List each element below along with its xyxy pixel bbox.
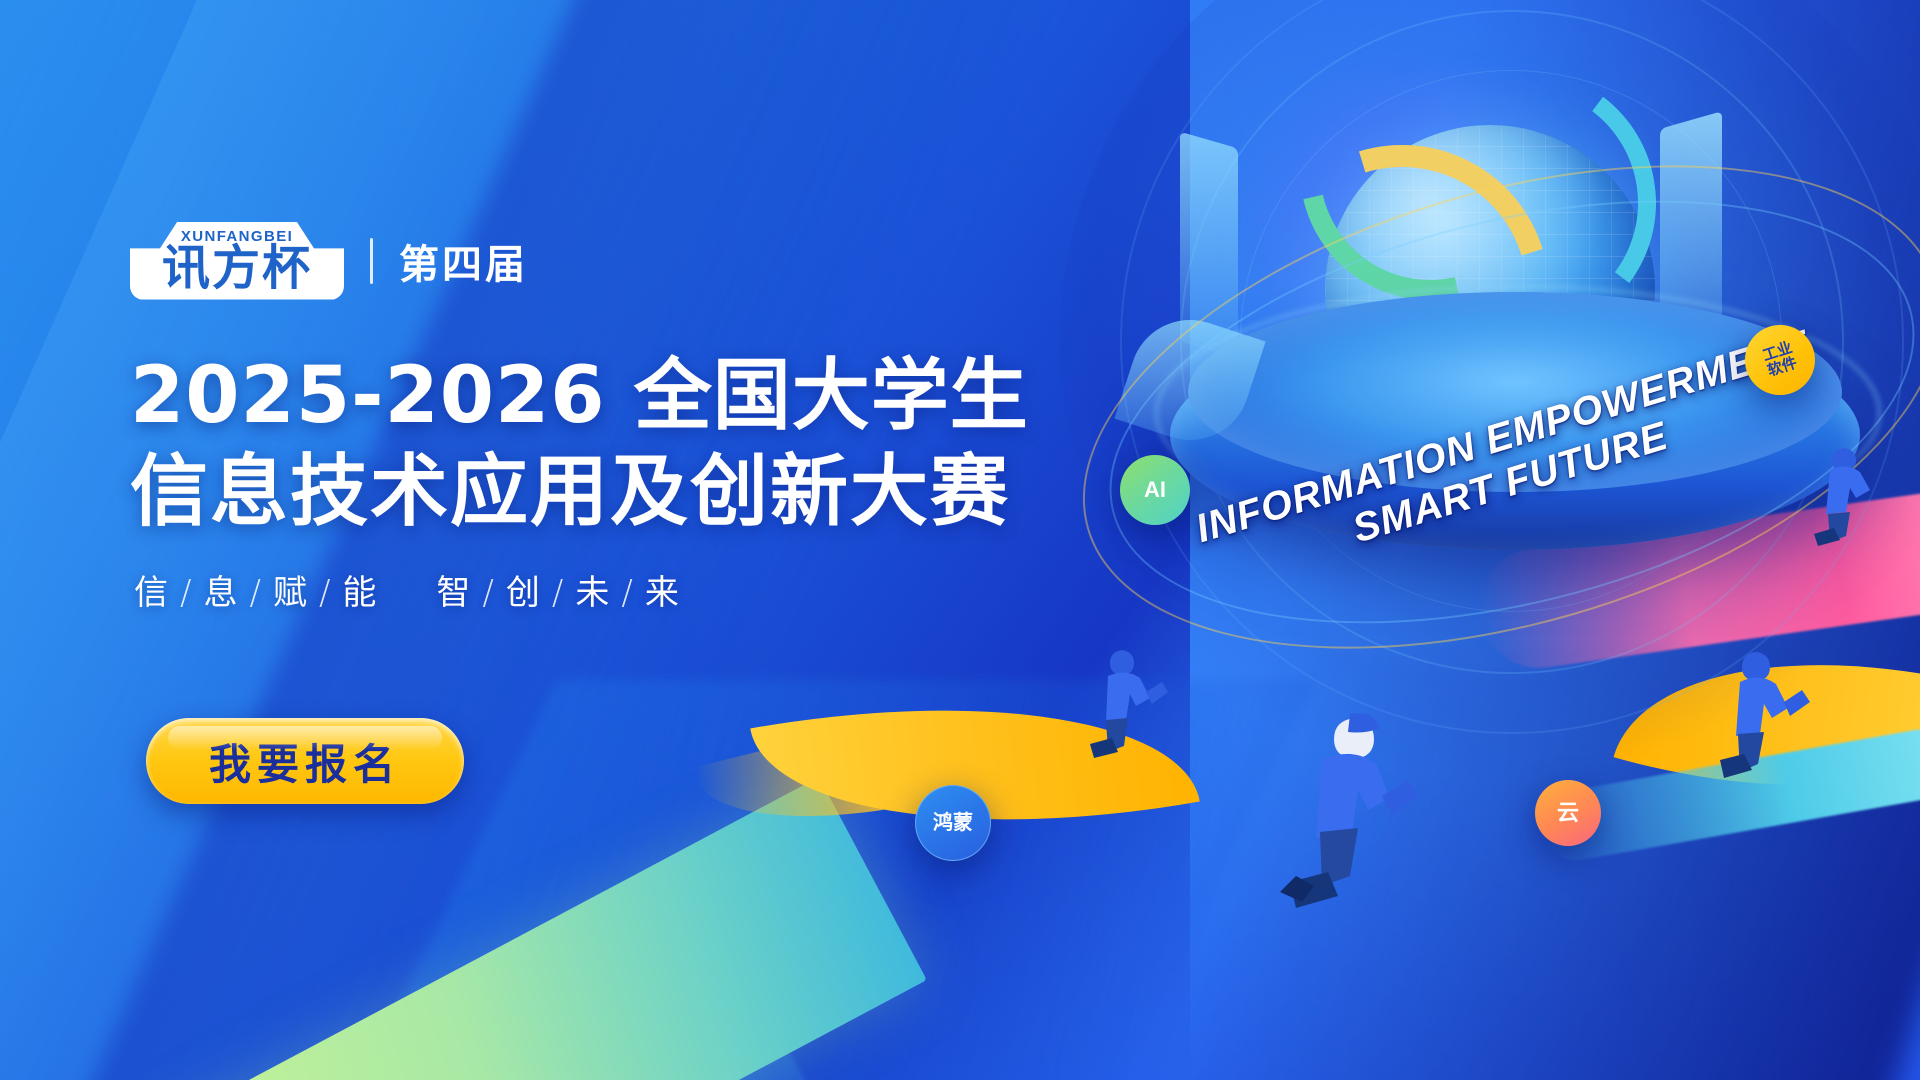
brand-logo-cn: 讯方杯 — [142, 244, 332, 292]
tagline-slash: / — [482, 573, 495, 613]
banner-content: XUNFANGBEI 讯方杯 第四届 2025-2026 全国大学生 信息技术应… — [130, 0, 1130, 1080]
tagline-slash: / — [180, 573, 193, 613]
tag-badge-industrial-software[interactable]: 工业 软件 — [1745, 325, 1815, 395]
brand-logo[interactable]: XUNFANGBEI 讯方杯 — [130, 222, 344, 300]
tagline: 信/息/赋/能智/创/未/来 — [134, 565, 681, 614]
page-title: 2025-2026 全国大学生 信息技术应用及创新大赛 — [130, 350, 1029, 538]
tagline-char: 能 — [342, 573, 378, 613]
runner-figure-center — [1250, 700, 1420, 915]
tag-label-industrial-software: 工业 软件 — [1761, 340, 1799, 379]
tagline-char: 智 — [436, 573, 472, 613]
tagline-char: 未 — [575, 573, 611, 613]
promo-banner: INFORMATION EMPOWERMENT SMART FUTURE AI … — [0, 0, 1920, 1080]
edition-label: 第四届 — [399, 232, 528, 290]
tagline-char: 创 — [506, 573, 542, 613]
register-button[interactable]: 我要报名 — [146, 718, 464, 804]
tagline-char: 来 — [645, 573, 681, 613]
tagline-slash: / — [552, 573, 565, 613]
tagline-char: 信 — [134, 573, 170, 613]
runner-figure-right — [1690, 640, 1810, 780]
tag-label-ai: AI — [1144, 478, 1166, 501]
tagline-char: 赋 — [273, 573, 309, 613]
tag-label-cloud: 云 — [1557, 801, 1579, 824]
runner-figure-far-right — [1790, 440, 1890, 550]
tag-badge-cloud[interactable]: 云 — [1535, 780, 1601, 846]
tagline-char: 息 — [203, 573, 239, 613]
tagline-slash: / — [621, 573, 634, 613]
title-line-1: 2025-2026 全国大学生 — [130, 350, 1029, 442]
tagline-slash: / — [319, 573, 332, 613]
tagline-slash: / — [249, 573, 262, 613]
logo-row: XUNFANGBEI 讯方杯 第四届 — [130, 222, 528, 300]
logo-divider — [370, 238, 373, 284]
title-line-2: 信息技术应用及创新大赛 — [130, 446, 1029, 538]
tag-badge-ai[interactable]: AI — [1120, 455, 1190, 525]
